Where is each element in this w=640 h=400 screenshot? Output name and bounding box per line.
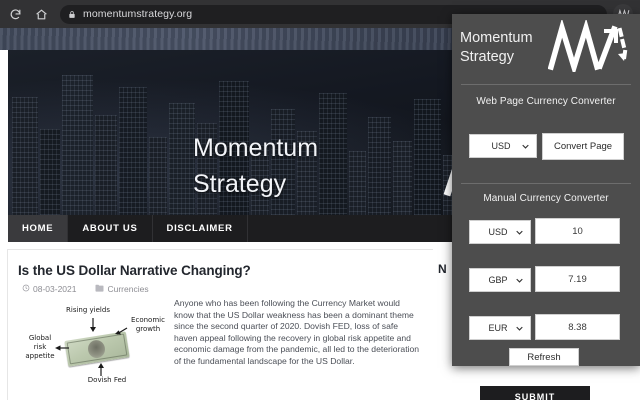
manual-amount-input-1[interactable]: 10 bbox=[535, 218, 620, 244]
nav-item-home[interactable]: HOME bbox=[8, 215, 68, 242]
momentum-zigzag-logo-icon bbox=[548, 20, 632, 77]
arrow-global-risk-icon bbox=[54, 344, 70, 352]
article-meta: 08-03-2021 Currencies bbox=[22, 284, 149, 294]
refresh-button[interactable]: Refresh bbox=[509, 348, 579, 366]
nav-item-disclaimer[interactable]: DISCLAIMER bbox=[153, 215, 248, 242]
article-category[interactable]: Currencies bbox=[95, 284, 148, 294]
sidebar-title-partial: N bbox=[438, 262, 447, 276]
dollar-infographic: Rising yields Economic growth Global ris… bbox=[14, 300, 172, 392]
arrow-economic-growth-icon bbox=[114, 326, 128, 336]
reload-icon[interactable] bbox=[4, 3, 26, 25]
manual-amount-input-2[interactable]: 7.19 bbox=[535, 266, 620, 292]
article-title[interactable]: Is the US Dollar Narrative Changing? bbox=[18, 263, 418, 278]
article-body: Anyone who has been following the Curren… bbox=[174, 298, 422, 368]
manual-currency-select-2[interactable]: GBP bbox=[469, 268, 531, 292]
infographic-label-dovish-fed: Dovish Fed bbox=[76, 376, 138, 385]
article-category-text: Currencies bbox=[107, 284, 148, 294]
nav-item-home-label: HOME bbox=[22, 223, 53, 234]
popup-brand-line1: Momentum bbox=[460, 29, 546, 48]
nav-item-about-us-label: ABOUT US bbox=[82, 223, 137, 234]
infographic-label-growth: growth bbox=[136, 325, 160, 333]
popup-header: Momentum Strategy bbox=[452, 14, 640, 82]
popup-divider-2 bbox=[461, 183, 631, 184]
article-date-text: 08-03-2021 bbox=[33, 284, 76, 294]
popup-divider-1 bbox=[461, 84, 631, 85]
manual-currency-select-1[interactable]: USD bbox=[469, 220, 531, 244]
nav-item-disclaimer-label: DISCLAIMER bbox=[167, 223, 233, 234]
webpage-currency-value: USD bbox=[470, 141, 522, 151]
popup-brand-line2: Strategy bbox=[460, 48, 546, 67]
arrow-dovish-fed-icon bbox=[96, 362, 106, 377]
chevron-down-icon bbox=[516, 230, 523, 235]
infographic-label-rising-yields: Rising yields bbox=[58, 306, 118, 315]
manual-converter-title: Manual Currency Converter bbox=[452, 193, 640, 204]
infographic-label-risk: risk bbox=[34, 343, 47, 351]
home-icon[interactable] bbox=[30, 3, 52, 25]
manual-currency-value-1: USD bbox=[470, 227, 516, 237]
chevron-down-icon bbox=[516, 278, 523, 283]
popup-brand: Momentum Strategy bbox=[460, 29, 546, 67]
extension-popup: Momentum Strategy Web Page Currency Conv… bbox=[452, 14, 640, 366]
webpage-currency-select[interactable]: USD bbox=[469, 134, 537, 158]
chevron-down-icon bbox=[522, 144, 529, 149]
article-card: Is the US Dollar Narrative Changing? 08-… bbox=[8, 250, 432, 400]
manual-currency-select-3[interactable]: EUR bbox=[469, 316, 531, 340]
infographic-label-global: Global bbox=[29, 334, 51, 342]
arrow-rising-yields-icon bbox=[88, 317, 98, 335]
lock-icon bbox=[68, 10, 76, 19]
chevron-down-icon bbox=[516, 326, 523, 331]
folder-icon bbox=[95, 284, 104, 294]
manual-currency-value-2: GBP bbox=[470, 275, 516, 285]
convert-page-button[interactable]: Convert Page bbox=[542, 133, 624, 160]
hero-title-line2: Strategy bbox=[193, 166, 423, 202]
nav-item-about-us[interactable]: ABOUT US bbox=[68, 215, 152, 242]
infographic-label-appetite: appetite bbox=[25, 352, 54, 360]
submit-button[interactable]: SUBMIT bbox=[480, 386, 590, 400]
webpage-converter-title: Web Page Currency Converter bbox=[452, 96, 640, 107]
infographic-label-economic: Economic bbox=[131, 316, 165, 324]
manual-currency-value-3: EUR bbox=[470, 323, 516, 333]
hero-title-line1: Momentum bbox=[193, 130, 423, 166]
article-date: 08-03-2021 bbox=[22, 284, 76, 294]
hero-title: Momentum Strategy bbox=[193, 130, 423, 202]
infographic-label-economic-growth: Economic growth bbox=[124, 316, 172, 334]
clock-icon bbox=[22, 284, 30, 294]
manual-amount-input-3[interactable]: 8.38 bbox=[535, 314, 620, 340]
address-bar-url: momentumstrategy.org bbox=[83, 8, 192, 20]
